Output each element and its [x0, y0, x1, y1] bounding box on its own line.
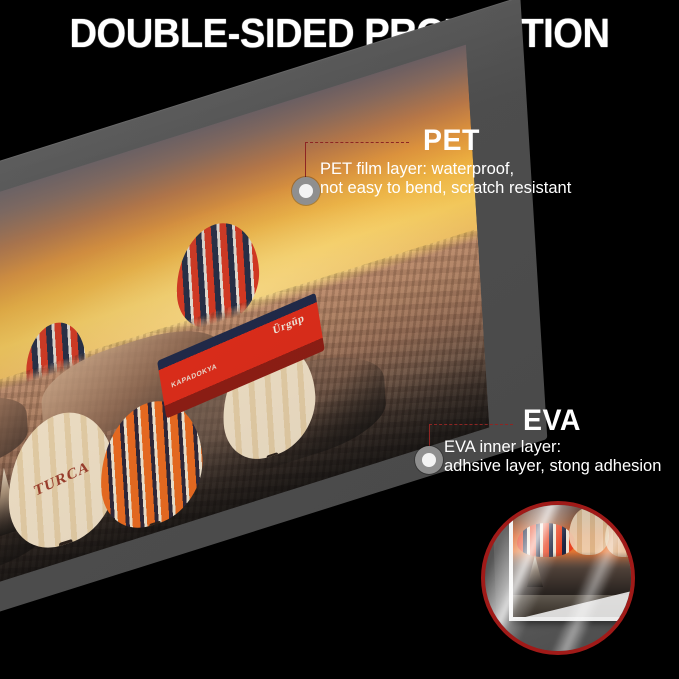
pet-layer-marker-dot	[292, 177, 320, 205]
eva-layer-marker-dot	[415, 446, 443, 474]
eva-callout-line-2: adhsive layer, stong adhesion	[444, 457, 661, 476]
magnified-detail-inset	[481, 501, 635, 655]
eva-callout-heading: EVA	[523, 404, 581, 438]
infographic-canvas: DOUBLE-SIDED PROTECTION	[0, 0, 679, 679]
pet-callout-line-2: not easy to bend, scratch resistant	[320, 179, 571, 198]
eva-callout-body: EVA inner layer: adhsive layer, stong ad…	[444, 438, 661, 477]
balloon-label-kapadokya: KAPADOKYA	[171, 363, 218, 390]
page-title: DOUBLE-SIDED PROTECTION	[24, 12, 655, 55]
pet-callout-heading: PET	[423, 124, 480, 158]
eva-leader-horizontal	[429, 424, 513, 425]
balloon-label-turca: TURCA	[8, 447, 116, 513]
pet-callout-line-1: PET film layer: waterproof,	[320, 160, 571, 179]
pet-callout-body: PET film layer: waterproof, not easy to …	[320, 160, 571, 199]
pet-leader-horizontal	[305, 142, 409, 143]
eva-callout-line-1: EVA inner layer:	[444, 438, 661, 457]
cappadocia-photo: TURCA Ürgüp KAPADOKYA	[0, 45, 489, 628]
balloon-label-urgup: Ürgüp	[272, 312, 305, 337]
photo-layer: TURCA Ürgüp KAPADOKYA	[0, 45, 489, 628]
